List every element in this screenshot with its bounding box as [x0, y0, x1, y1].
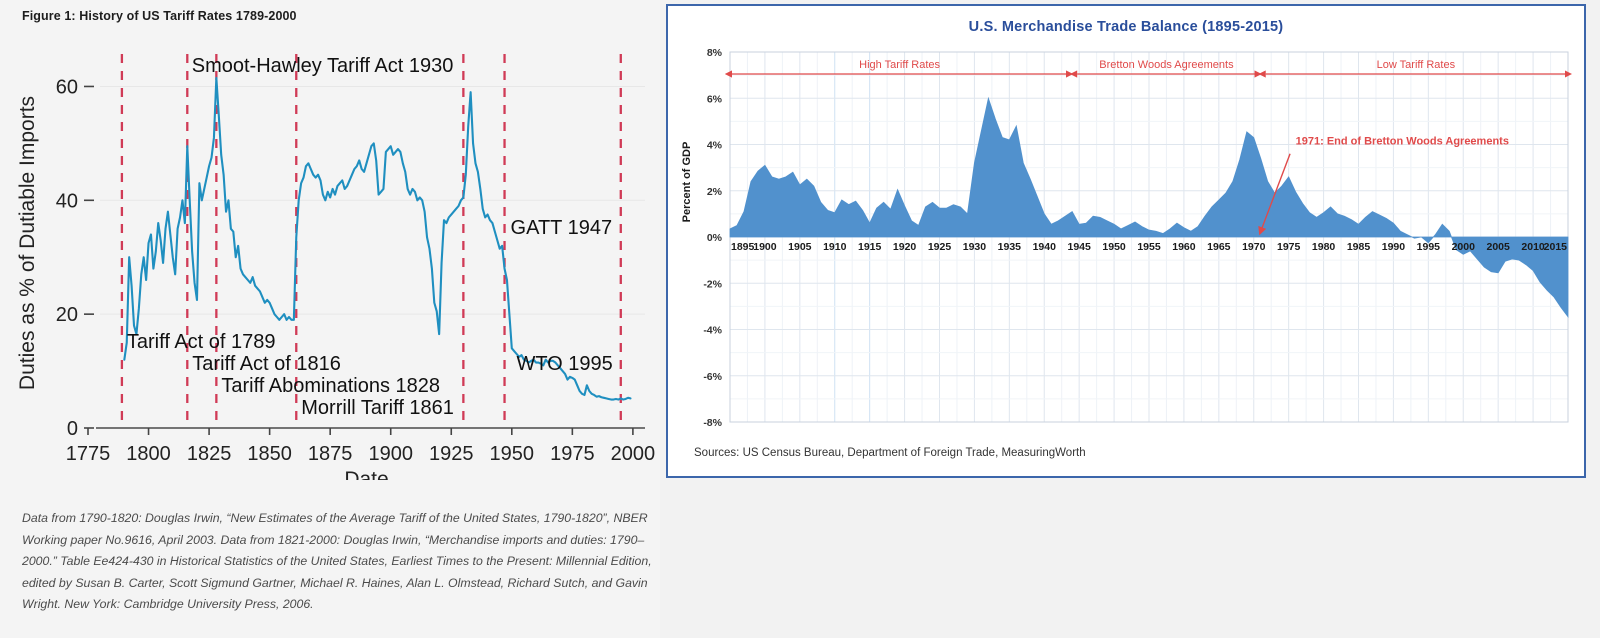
- figure-caption: Data from 1790-1820: Douglas Irwin, “New…: [22, 508, 652, 616]
- x-tick-label: 1975: [1277, 241, 1301, 253]
- y-tick-label: 8%: [707, 47, 723, 59]
- x-tick-label: 2015: [1544, 241, 1568, 253]
- x-tick-label: 1930: [963, 241, 987, 253]
- chart-source-note: Sources: US Census Bureau, Department of…: [694, 447, 1086, 459]
- x-tick-label: 1995: [1417, 241, 1441, 253]
- x-tick-label: 1920: [893, 241, 917, 253]
- y-tick-label: -2%: [703, 278, 722, 290]
- x-tick-label: 1950: [490, 443, 535, 465]
- y-tick-label: 60: [56, 76, 78, 98]
- y-axis-title: Percent of GDP: [681, 142, 693, 223]
- annotation-label-4: Smoot-Hawley Tariff Act 1930: [192, 55, 454, 77]
- x-tick-label: 1935: [998, 241, 1022, 253]
- y-tick-label: 40: [56, 190, 78, 212]
- x-tick-label: 1875: [308, 443, 353, 465]
- left-figure-panel: Figure 1: History of US Tariff Rates 178…: [0, 0, 660, 638]
- page-root: Figure 1: History of US Tariff Rates 178…: [0, 0, 1600, 638]
- annotation-label-2: Tariff Abominations 1828: [221, 375, 440, 397]
- x-tick-label: 1955: [1137, 241, 1161, 253]
- x-tick-label: 1900: [753, 241, 777, 253]
- x-tick-label: 1825: [187, 443, 232, 465]
- x-tick-label: 1905: [788, 241, 812, 253]
- annotation-label-6: WTO 1995: [516, 353, 612, 375]
- y-tick-label: 0: [67, 418, 78, 440]
- y-tick-label: 20: [56, 304, 78, 326]
- x-tick-label: 1965: [1207, 241, 1231, 253]
- tariff-rates-chart: 0204060177518001825185018751900192519501…: [0, 30, 660, 480]
- y-axis-title: Duties as % of Dutiable Imports: [16, 96, 39, 390]
- span-label-0: High Tariff Rates: [859, 59, 940, 71]
- trade-balance-panel: U.S. Merchandise Trade Balance (1895-201…: [666, 4, 1586, 478]
- y-tick-label: 4%: [707, 140, 723, 152]
- y-tick-label: -6%: [703, 371, 722, 383]
- y-tick-label: -8%: [703, 417, 722, 429]
- x-tick-label: 1980: [1312, 241, 1336, 253]
- x-tick-label: 1925: [928, 241, 952, 253]
- span-label-1: Bretton Woods Agreements: [1099, 59, 1234, 71]
- x-tick-label: 1950: [1102, 241, 1126, 253]
- x-tick-label: 1895: [731, 241, 755, 253]
- x-tick-label: 2000: [1452, 241, 1476, 253]
- x-tick-label: 1850: [247, 443, 292, 465]
- trade-balance-chart: 8%6%4%2%0%-2%-4%-6%-8%189519001905191019…: [668, 34, 1584, 444]
- x-tick-label: 2010: [1521, 241, 1545, 253]
- x-tick-label: 1945: [1067, 241, 1091, 253]
- figure-title: Figure 1: History of US Tariff Rates 178…: [22, 9, 297, 23]
- x-tick-label: 1990: [1382, 241, 1406, 253]
- y-tick-label: 0%: [707, 232, 723, 244]
- x-tick-label: 1940: [1033, 241, 1057, 253]
- chart-title: U.S. Merchandise Trade Balance (1895-201…: [668, 19, 1584, 35]
- x-tick-label: 1915: [858, 241, 882, 253]
- x-tick-label: 1985: [1347, 241, 1371, 253]
- x-tick-label: 1775: [66, 443, 111, 465]
- y-tick-label: 6%: [707, 93, 723, 105]
- x-tick-label: 1910: [823, 241, 847, 253]
- bretton-woods-note: 1971: End of Bretton Woods Agreements: [1296, 136, 1509, 148]
- annotation-label-0: Tariff Act of 1789: [127, 331, 276, 353]
- y-tick-label: -4%: [703, 325, 722, 337]
- x-tick-label: 1975: [550, 443, 595, 465]
- x-tick-label: 1970: [1242, 241, 1266, 253]
- y-tick-label: 2%: [707, 186, 723, 198]
- span-label-2: Low Tariff Rates: [1377, 59, 1456, 71]
- annotation-label-1: Tariff Act of 1816: [192, 353, 341, 375]
- x-tick-label: 1960: [1172, 241, 1196, 253]
- x-tick-label: 2000: [611, 443, 656, 465]
- x-tick-label: 1925: [429, 443, 474, 465]
- x-axis-title: Date: [344, 468, 388, 480]
- annotation-label-3: Morrill Tariff 1861: [301, 397, 454, 419]
- x-tick-label: 2005: [1486, 241, 1510, 253]
- x-tick-label: 1900: [368, 443, 413, 465]
- x-tick-label: 1800: [126, 443, 171, 465]
- annotation-label-5: GATT 1947: [511, 217, 613, 239]
